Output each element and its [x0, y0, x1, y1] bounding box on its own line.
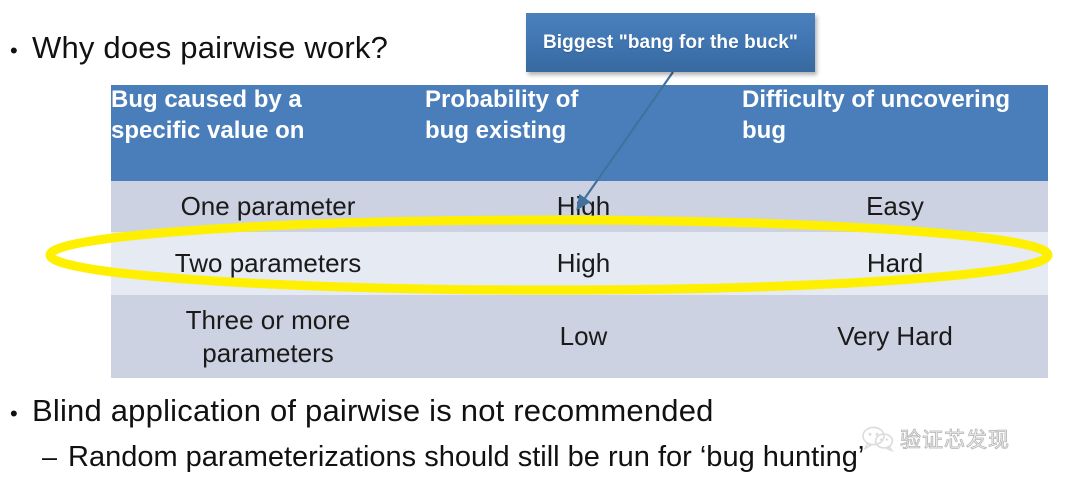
- wechat-icon: [862, 426, 894, 452]
- cell-parameters-three-line1: Three or more: [111, 304, 425, 337]
- column-header-probability-line1: Probability of: [425, 85, 742, 116]
- cell-probability-two: High: [425, 232, 742, 295]
- column-header-bug-cause: Bug caused by a specific value on: [111, 85, 425, 181]
- bullet-marker-icon: •: [10, 40, 32, 62]
- column-header-probability: Probability of bug existing: [425, 85, 742, 181]
- table-row: One parameter High Easy: [111, 181, 1048, 232]
- column-header-difficulty-line2: bug: [742, 116, 1048, 147]
- cell-difficulty-two: Hard: [742, 232, 1048, 295]
- cell-difficulty-one: Easy: [742, 181, 1048, 232]
- cell-parameters-three: Three or more parameters: [111, 295, 425, 378]
- bullet-dash-marker-icon: –: [42, 444, 68, 471]
- callout-box-label: Biggest "bang for the buck": [543, 32, 798, 54]
- bullet-random-parameterizations: – Random parameterizations should still …: [42, 441, 864, 474]
- watermark: 验证芯发现: [862, 424, 1010, 454]
- bullet-marker-icon: •: [10, 403, 32, 425]
- cell-difficulty-three: Very Hard: [742, 295, 1048, 378]
- table-body: One parameter High Easy Two parameters H…: [111, 181, 1048, 378]
- watermark-text: 验证芯发现: [900, 424, 1010, 454]
- cell-probability-three: Low: [425, 295, 742, 378]
- column-header-bug-cause-line1: Bug caused by a: [111, 85, 425, 116]
- table-header: Bug caused by a specific value on Probab…: [111, 85, 1048, 181]
- cell-parameters-three-line2: parameters: [111, 337, 425, 370]
- cell-probability-one: High: [425, 181, 742, 232]
- cell-parameters-one: One parameter: [111, 181, 425, 232]
- table-header-row: Bug caused by a specific value on Probab…: [111, 85, 1048, 181]
- bullet-blind-application-text: Blind application of pairwise is not rec…: [32, 393, 714, 429]
- table-row: Three or more parameters Low Very Hard: [111, 295, 1048, 378]
- slide-canvas: • Why does pairwise work? Bug caused by …: [0, 0, 1080, 484]
- pairwise-table: Bug caused by a specific value on Probab…: [111, 85, 1048, 378]
- table-row-highlighted: Two parameters High Hard: [111, 232, 1048, 295]
- bullet-blind-application: • Blind application of pairwise is not r…: [10, 393, 714, 429]
- callout-box: Biggest "bang for the buck": [526, 13, 815, 72]
- bullet-why-pairwise-text: Why does pairwise work?: [32, 30, 388, 66]
- column-header-difficulty: Difficulty of uncovering bug: [742, 85, 1048, 181]
- column-header-probability-line2: bug existing: [425, 116, 742, 147]
- bullet-why-pairwise: • Why does pairwise work?: [10, 30, 388, 66]
- column-header-difficulty-line1: Difficulty of uncovering: [742, 85, 1048, 116]
- bullet-random-parameterizations-text: Random parameterizations should still be…: [68, 441, 864, 474]
- cell-parameters-two: Two parameters: [111, 232, 425, 295]
- column-header-bug-cause-line2: specific value on: [111, 116, 425, 147]
